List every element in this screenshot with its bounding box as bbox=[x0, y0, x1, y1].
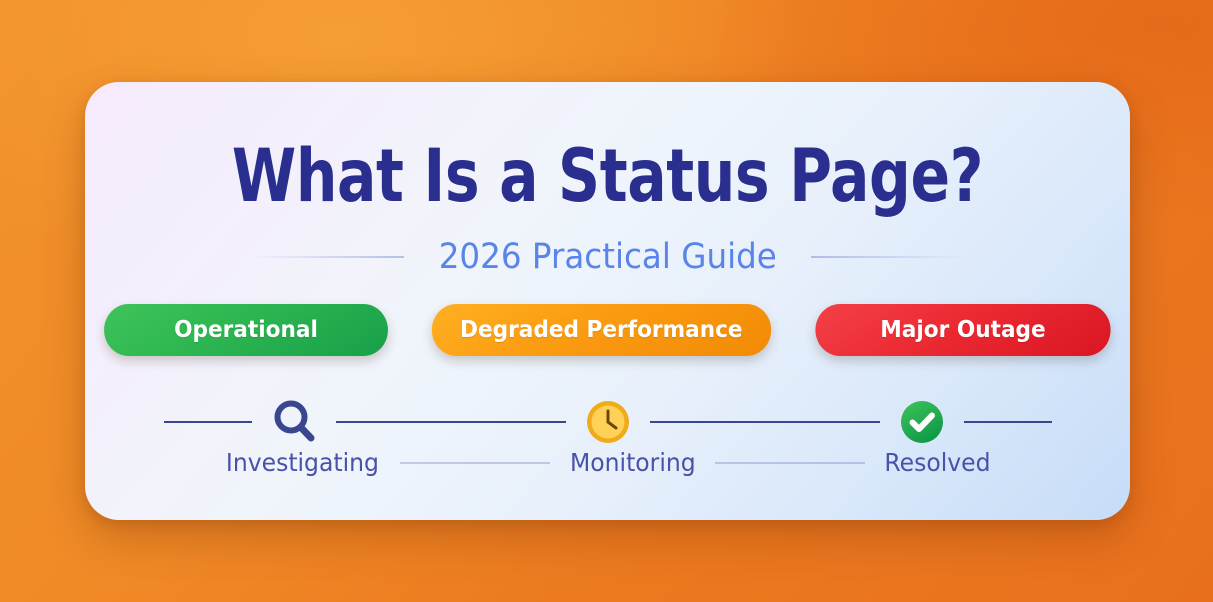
status-pill-group: Operational Degraded Performance Major O… bbox=[85, 304, 1130, 356]
page-subtitle: 2026 Practical Guide bbox=[438, 237, 776, 277]
timeline-node-resolved[interactable] bbox=[894, 394, 950, 450]
timeline-label-monitoring: Monitoring bbox=[555, 448, 711, 477]
clock-icon bbox=[584, 398, 632, 446]
timeline-label-line-2 bbox=[715, 462, 865, 464]
timeline-icon-row bbox=[85, 394, 1130, 450]
status-pill-operational[interactable]: Operational bbox=[104, 304, 388, 356]
poster-canvas: What Is a Status Page? 2026 Practical Gu… bbox=[0, 0, 1213, 602]
status-page-card: What Is a Status Page? 2026 Practical Gu… bbox=[85, 82, 1130, 520]
subtitle-rule-right bbox=[811, 256, 959, 258]
timeline-line-1 bbox=[336, 421, 566, 423]
timeline-label-investigating: Investigating bbox=[211, 448, 394, 477]
page-title: What Is a Status Page? bbox=[190, 140, 1026, 213]
timeline-line-end bbox=[964, 421, 1052, 423]
timeline-label-resolved: Resolved bbox=[870, 448, 1006, 477]
timeline-line-start bbox=[164, 421, 252, 423]
check-circle-icon bbox=[897, 397, 947, 447]
incident-timeline: Investigating Monitoring Resolved bbox=[85, 388, 1130, 498]
status-pill-degraded-performance[interactable]: Degraded Performance bbox=[432, 304, 771, 356]
timeline-node-monitoring[interactable] bbox=[580, 394, 636, 450]
timeline-label-row: Investigating Monitoring Resolved bbox=[85, 448, 1130, 477]
timeline-node-investigating[interactable] bbox=[266, 394, 322, 450]
magnifier-icon bbox=[268, 396, 320, 448]
timeline-label-line-1 bbox=[400, 462, 550, 464]
status-pill-major-outage[interactable]: Major Outage bbox=[815, 304, 1110, 356]
subtitle-rule-left bbox=[256, 256, 404, 258]
timeline-line-2 bbox=[650, 421, 880, 423]
subtitle-row: 2026 Practical Guide bbox=[85, 237, 1130, 277]
